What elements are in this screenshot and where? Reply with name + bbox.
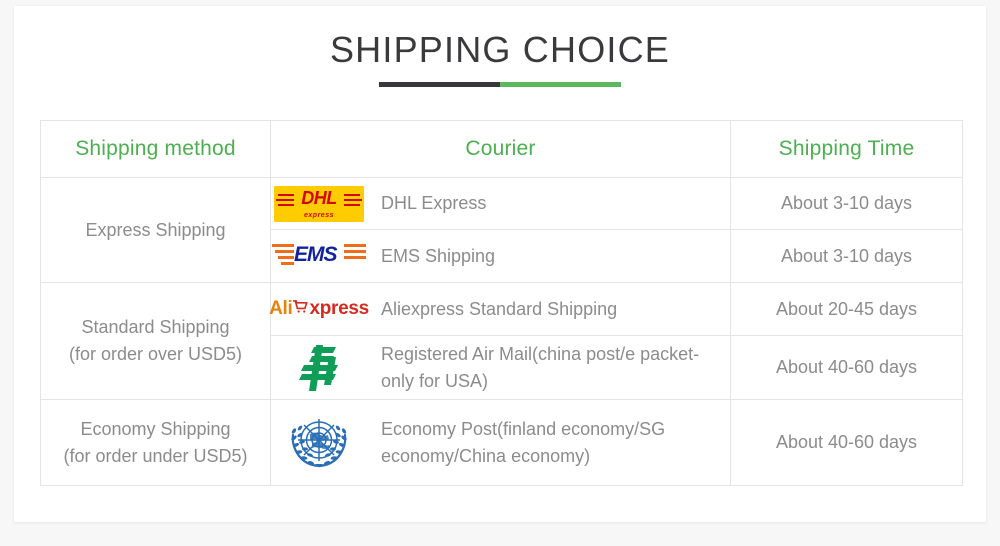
table-row: Standard Shipping (for order over USD5) … <box>41 283 963 336</box>
aliexpress-logo-wordmark-ali: Ali <box>269 298 292 320</box>
method-note: (for order over USD5) <box>41 341 270 368</box>
title-underline <box>379 82 621 87</box>
table-row: Express Shipping DHL express DHL Expr <box>41 178 963 230</box>
courier-cell-china-post: Registered Air Mail(china post/e packet-… <box>271 336 731 400</box>
title-underline-dark <box>379 82 500 87</box>
title-underline-green <box>500 82 621 87</box>
method-label: Express Shipping <box>41 217 270 244</box>
china-post-logo <box>271 345 367 391</box>
courier-label: Registered Air Mail(china post/e packet-… <box>381 341 730 395</box>
table-body: Express Shipping DHL express DHL Expr <box>41 178 963 486</box>
column-header-courier: Courier <box>271 121 731 178</box>
column-header-shipping-time: Shipping Time <box>731 121 963 178</box>
method-label: Economy Shipping <box>41 416 270 443</box>
time-cell: About 40-60 days <box>731 336 963 400</box>
table-row: Economy Shipping (for order under USD5) <box>41 400 963 486</box>
method-cell-economy: Economy Shipping (for order under USD5) <box>41 400 271 486</box>
courier-label: Aliexpress Standard Shipping <box>381 296 617 323</box>
dhl-logo-wordmark: DHL <box>274 189 364 207</box>
aliexpress-logo: Ali xpress <box>271 286 367 332</box>
courier-cell-dhl: DHL express DHL Express <box>271 178 731 230</box>
table-head: Shipping method Courier Shipping Time <box>41 121 963 178</box>
page-title: SHIPPING CHOICE <box>14 28 986 72</box>
courier-label: DHL Express <box>381 190 486 217</box>
courier-label: Economy Post(finland economy/SG economy/… <box>381 416 730 470</box>
ems-logo-wordmark: EMS <box>294 243 337 267</box>
shipping-choice-card: SHIPPING CHOICE Shipping method Courier … <box>14 6 986 522</box>
courier-cell-ems: EMS EMS Shipping <box>271 230 731 283</box>
title-block: SHIPPING CHOICE <box>14 28 986 87</box>
shipping-table: Shipping method Courier Shipping Time Ex… <box>40 120 963 486</box>
method-cell-express: Express Shipping <box>41 178 271 283</box>
time-cell: About 3-10 days <box>731 230 963 283</box>
time-cell: About 20-45 days <box>731 283 963 336</box>
courier-cell-economy-post: Economy Post(finland economy/SG economy/… <box>271 400 731 486</box>
dhl-logo-subtext: express <box>274 212 364 220</box>
time-cell: About 40-60 days <box>731 400 963 486</box>
method-cell-standard: Standard Shipping (for order over USD5) <box>41 283 271 400</box>
column-header-shipping-method: Shipping method <box>41 121 271 178</box>
un-upu-logo <box>271 420 367 466</box>
method-note: (for order under USD5) <box>41 443 270 470</box>
shopping-cart-icon <box>293 298 308 320</box>
aliexpress-logo-wordmark-xpress: xpress <box>309 298 368 320</box>
time-cell: About 3-10 days <box>731 178 963 230</box>
courier-cell-aliexpress: Ali xpress <box>271 283 731 336</box>
method-label: Standard Shipping <box>41 314 270 341</box>
ems-logo: EMS <box>271 233 367 279</box>
courier-label: EMS Shipping <box>381 243 495 270</box>
table-header-row: Shipping method Courier Shipping Time <box>41 121 963 178</box>
dhl-logo: DHL express <box>271 181 367 227</box>
